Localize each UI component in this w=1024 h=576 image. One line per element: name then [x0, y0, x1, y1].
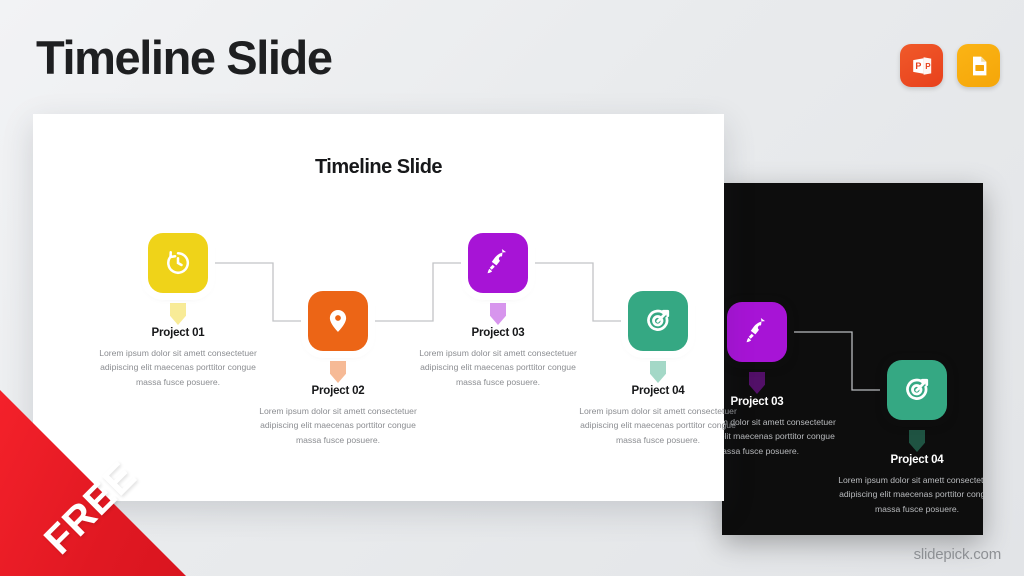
location-pin-icon [308, 291, 368, 351]
slide-title: Timeline Slide [33, 156, 724, 179]
timeline-heading: Project 02 [252, 385, 424, 397]
dark-timeline-marker-4[interactable] [887, 360, 947, 420]
timeline-body: Lorem ipsum dolor sit amett consectetuer… [92, 346, 264, 389]
timeline-heading: Project 04 [831, 454, 983, 466]
dark-slide-title: Timeline Slide [722, 205, 983, 227]
app-format-badges: P P [900, 44, 1000, 87]
timeline-text-3: Project 03 Lorem ipsum dolor sit amett c… [412, 327, 584, 389]
marker-tail [170, 303, 186, 325]
timeline-text-4: Project 04 Lorem ipsum dolor sit amett c… [572, 385, 744, 447]
timeline-body: Lorem ipsum dolor sit amett consectetuer… [412, 346, 584, 389]
dark-theme-slide-preview[interactable]: Timeline Slide Project 01 Lorem ipsum do… [722, 183, 983, 535]
timeline-heading: Project 04 [572, 385, 744, 397]
rocket-icon [468, 233, 528, 293]
dark-timeline-marker-3[interactable] [727, 302, 787, 362]
timeline-text-1: Project 01 Lorem ipsum dolor sit amett c… [92, 327, 264, 389]
target-icon [887, 360, 947, 420]
marker-tail [490, 303, 506, 325]
marker-tail [749, 372, 765, 394]
timeline-marker-2[interactable] [308, 291, 368, 351]
page-title: Timeline Slide [36, 34, 332, 81]
timeline-body: Lorem ipsum dolor sit amett consectetuer… [252, 404, 424, 447]
powerpoint-icon[interactable]: P P [900, 44, 943, 87]
timeline-body: Lorem ipsum dolor sit amett consectetuer… [572, 404, 744, 447]
marker-tail [330, 361, 346, 383]
marker-tail [650, 361, 666, 383]
timeline-marker-4[interactable] [628, 291, 688, 351]
target-icon [628, 291, 688, 351]
site-watermark: slidepick.com [914, 546, 1001, 563]
clock-icon [148, 233, 208, 293]
timeline-marker-3[interactable] [468, 233, 528, 293]
google-slides-icon[interactable] [957, 44, 1000, 87]
timeline-body: Lorem ipsum dolor sit amett consectetuer… [831, 473, 983, 516]
rocket-icon [727, 302, 787, 362]
free-ribbon: FREE [0, 390, 186, 576]
timeline-heading: Project 01 [92, 327, 264, 339]
timeline-heading: Project 03 [412, 327, 584, 339]
svg-text:P: P [915, 61, 921, 71]
timeline-text-2: Project 02 Lorem ipsum dolor sit amett c… [252, 385, 424, 447]
dark-timeline-text-4: Project 04 Lorem ipsum dolor sit amett c… [831, 454, 983, 516]
svg-text:P: P [925, 62, 931, 71]
marker-tail [909, 430, 925, 452]
timeline-marker-1[interactable] [148, 233, 208, 293]
